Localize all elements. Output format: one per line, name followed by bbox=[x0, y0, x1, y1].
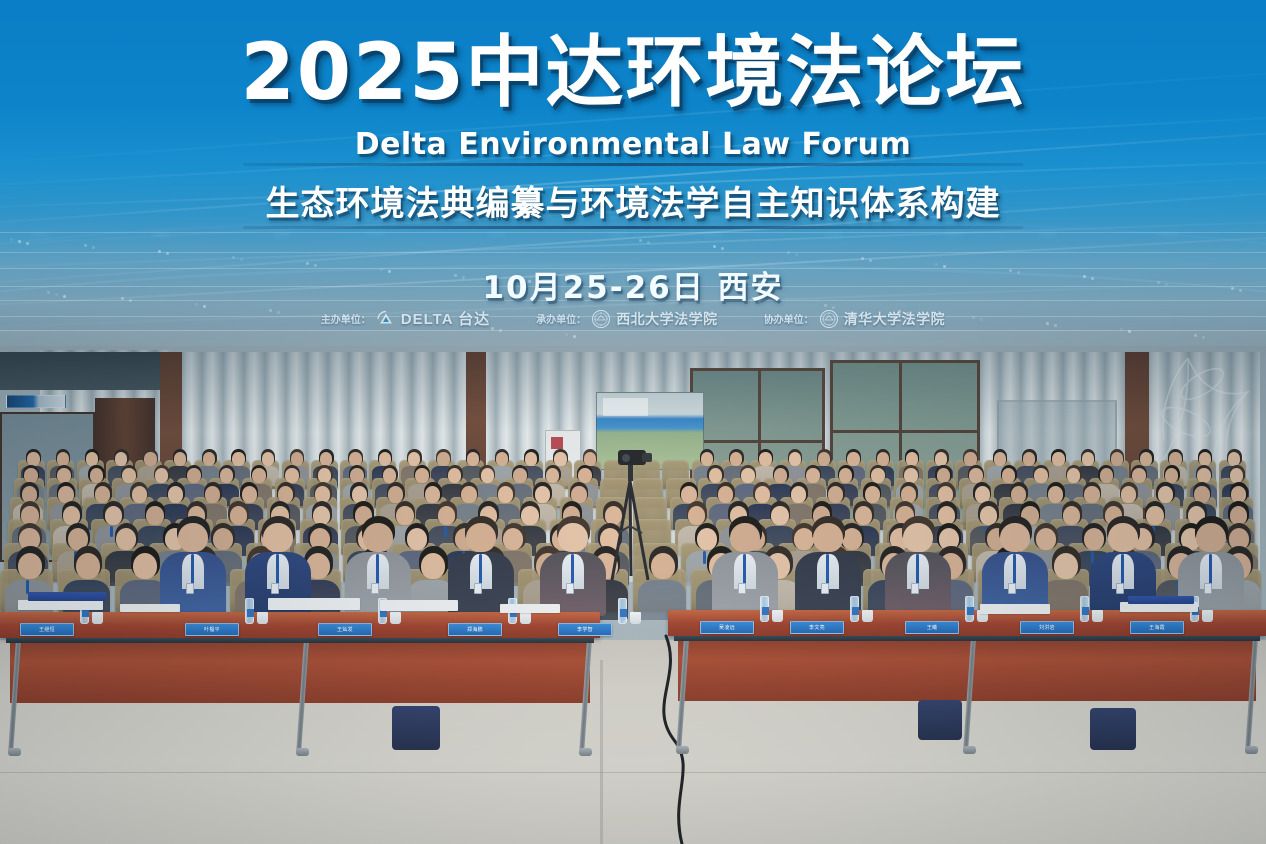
floor-bag bbox=[918, 700, 962, 740]
audience-head bbox=[155, 468, 169, 483]
name-badge bbox=[821, 583, 829, 594]
desk-caster bbox=[676, 746, 689, 754]
page-title: 2025中达环境法论坛 bbox=[0, 34, 1266, 112]
audience-head bbox=[57, 468, 71, 483]
lanyard bbox=[1013, 554, 1016, 585]
organizer-name: 西北大学法学院 bbox=[616, 309, 718, 329]
audience-head bbox=[481, 468, 495, 483]
audience-head bbox=[415, 468, 429, 483]
conference-photo-banner: 王继恒叶榅平王灿发郑海鹏李学智吴凌远李文亮王曦刘洪岩王海霞 2025中达环境法论… bbox=[0, 0, 1266, 844]
audience-head bbox=[1197, 468, 1211, 483]
audience-head bbox=[1034, 468, 1048, 483]
desk-nameplate: 刘洪岩 bbox=[1020, 621, 1074, 634]
front-row-head bbox=[1000, 523, 1029, 553]
audience-head bbox=[806, 468, 820, 483]
organizer-name: DELTA 台达 bbox=[401, 308, 490, 329]
paper-documents bbox=[980, 604, 1050, 614]
paper-cup bbox=[390, 612, 401, 624]
audience-head bbox=[1067, 468, 1081, 483]
university-seal-icon bbox=[819, 309, 839, 329]
wall-header-band bbox=[0, 352, 165, 390]
water-bottle bbox=[850, 596, 859, 622]
audience-head bbox=[448, 468, 462, 483]
front-row-head bbox=[363, 523, 392, 553]
audience-head bbox=[1054, 553, 1078, 579]
organizer-label: 协办单位： bbox=[764, 311, 814, 326]
desk-nameplate: 郑海鹏 bbox=[448, 623, 502, 636]
name-badge bbox=[911, 583, 919, 594]
desk-nameplate: 叶榅平 bbox=[185, 623, 239, 636]
name-badge bbox=[271, 583, 279, 594]
lanyard bbox=[479, 554, 482, 585]
name-badge bbox=[371, 583, 379, 594]
audience-head bbox=[1165, 468, 1179, 483]
paper-cup bbox=[630, 612, 641, 624]
lanyard bbox=[826, 554, 829, 585]
desk-nameplate: 吴凌远 bbox=[700, 621, 754, 634]
document-folder bbox=[1128, 596, 1194, 604]
audience-head bbox=[578, 468, 592, 483]
desk-nameplate: 王海霞 bbox=[1130, 621, 1184, 634]
name-badge bbox=[566, 583, 574, 594]
paper-cup bbox=[862, 610, 873, 622]
audience-head bbox=[18, 553, 42, 579]
organizer-row: 主办单位：DELTA 台达承办单位：西北大学法学院协办单位：清华大学法学院 bbox=[0, 308, 1266, 329]
university-seal-icon bbox=[819, 309, 839, 329]
exit-sign bbox=[6, 395, 66, 408]
floor-bag bbox=[1090, 708, 1136, 750]
water-bottle bbox=[965, 596, 974, 622]
event-title-english: Delta Environmental Law Forum bbox=[0, 127, 1266, 162]
desk-caster bbox=[8, 748, 21, 756]
delta-triangle-icon bbox=[376, 309, 396, 329]
water-bottle bbox=[618, 598, 627, 624]
desk-caster bbox=[579, 748, 592, 756]
audience-head bbox=[383, 468, 397, 483]
event-banner: 2025中达环境法论坛 Delta Environmental Law Foru… bbox=[0, 0, 1266, 346]
audience-head bbox=[871, 468, 885, 483]
audience-head bbox=[350, 468, 364, 483]
front-row-member bbox=[448, 516, 514, 612]
organizer-1: 主办单位：DELTA 台达 bbox=[321, 308, 490, 329]
lanyard bbox=[743, 554, 746, 585]
event-subtitle: 生态环境法典编纂与环境法学自主知识体系构建 bbox=[0, 176, 1266, 225]
front-row-head bbox=[466, 523, 495, 553]
audience-head bbox=[220, 468, 234, 483]
organizer-name: 清华大学法学院 bbox=[844, 309, 946, 329]
front-row-member bbox=[160, 516, 226, 612]
organizer-label: 承办单位： bbox=[536, 311, 586, 326]
paper-cup bbox=[1202, 610, 1213, 622]
audience-head bbox=[318, 468, 332, 483]
name-badge bbox=[474, 583, 482, 594]
organizer-label: 主办单位： bbox=[321, 311, 371, 326]
front-row-member bbox=[885, 516, 951, 612]
paper-cup bbox=[92, 612, 103, 624]
university-seal-icon bbox=[591, 309, 611, 329]
university-seal-icon bbox=[591, 309, 611, 329]
name-badge bbox=[1116, 583, 1124, 594]
lanyard bbox=[916, 554, 919, 585]
lanyard bbox=[191, 554, 194, 585]
front-row-member bbox=[982, 516, 1048, 612]
audience-head bbox=[187, 468, 201, 483]
name-badge bbox=[738, 583, 746, 594]
lanyard bbox=[376, 554, 379, 585]
document-folder bbox=[28, 592, 106, 601]
lanyard bbox=[276, 554, 279, 585]
paper-cup bbox=[1092, 610, 1103, 622]
front-row-member bbox=[540, 516, 606, 612]
paper-documents bbox=[120, 604, 180, 612]
water-bottle bbox=[1080, 596, 1089, 622]
audience-head bbox=[709, 468, 723, 483]
floor-bag bbox=[392, 706, 440, 750]
audience-head bbox=[1002, 468, 1016, 483]
front-row-head bbox=[178, 523, 207, 553]
audience-head bbox=[285, 468, 299, 483]
audience-head bbox=[1100, 468, 1114, 483]
water-bottle bbox=[245, 598, 254, 624]
audience-head bbox=[937, 468, 951, 483]
audience-head bbox=[1230, 468, 1244, 483]
front-row-head bbox=[730, 523, 759, 553]
audience-head bbox=[839, 468, 853, 483]
audience-head bbox=[1132, 468, 1146, 483]
paper-documents bbox=[380, 600, 458, 611]
front-row-head bbox=[903, 523, 932, 553]
desk-caster bbox=[1245, 746, 1258, 754]
front-row-head bbox=[813, 523, 842, 553]
audience-head bbox=[24, 468, 38, 483]
paper-documents bbox=[18, 600, 103, 610]
name-badge bbox=[186, 583, 194, 594]
desk-nameplate: 王继恒 bbox=[20, 623, 74, 636]
water-bottle bbox=[760, 596, 769, 622]
paper-cup bbox=[257, 612, 268, 624]
audience-head bbox=[513, 468, 527, 483]
lanyard bbox=[1209, 554, 1212, 585]
desk-nameplate: 李文亮 bbox=[790, 621, 844, 634]
audience-head bbox=[774, 468, 788, 483]
audience-head bbox=[90, 468, 104, 483]
audience-head bbox=[421, 553, 445, 579]
paper-cup bbox=[772, 610, 783, 622]
organizer-3: 协办单位：清华大学法学院 bbox=[764, 309, 946, 329]
lanyard bbox=[571, 554, 574, 585]
front-row-head bbox=[263, 523, 292, 553]
front-row-head bbox=[558, 523, 587, 553]
video-camera-on-tripod bbox=[600, 448, 660, 588]
desk-nameplate: 李学智 bbox=[558, 623, 612, 636]
audience-head bbox=[76, 553, 100, 579]
title-divider-bottom bbox=[243, 226, 1023, 229]
audience-head bbox=[969, 468, 983, 483]
audience-head bbox=[252, 468, 266, 483]
audience-head bbox=[904, 468, 918, 483]
audience-head bbox=[122, 468, 136, 483]
organizer-2: 承办单位：西北大学法学院 bbox=[536, 309, 718, 329]
name-badge bbox=[1204, 583, 1212, 594]
lanyard bbox=[1121, 554, 1124, 585]
desk-nameplate: 王灿发 bbox=[318, 623, 372, 636]
paper-cup bbox=[520, 612, 531, 624]
title-divider-top bbox=[243, 163, 1023, 166]
paper-documents bbox=[500, 604, 560, 613]
event-date-location: 10月25-26日 西安 bbox=[0, 262, 1266, 307]
audience-head bbox=[741, 468, 755, 483]
audience-head bbox=[546, 468, 560, 483]
desk-caster bbox=[963, 746, 976, 754]
front-row-head bbox=[1196, 523, 1225, 553]
front-row-head bbox=[1108, 523, 1137, 553]
delta-logo-icon bbox=[376, 309, 396, 329]
desk-caster bbox=[296, 748, 309, 756]
paper-documents bbox=[268, 598, 360, 610]
name-badge bbox=[1008, 583, 1016, 594]
desk-nameplate: 王曦 bbox=[905, 621, 959, 634]
audience-head bbox=[133, 553, 157, 579]
